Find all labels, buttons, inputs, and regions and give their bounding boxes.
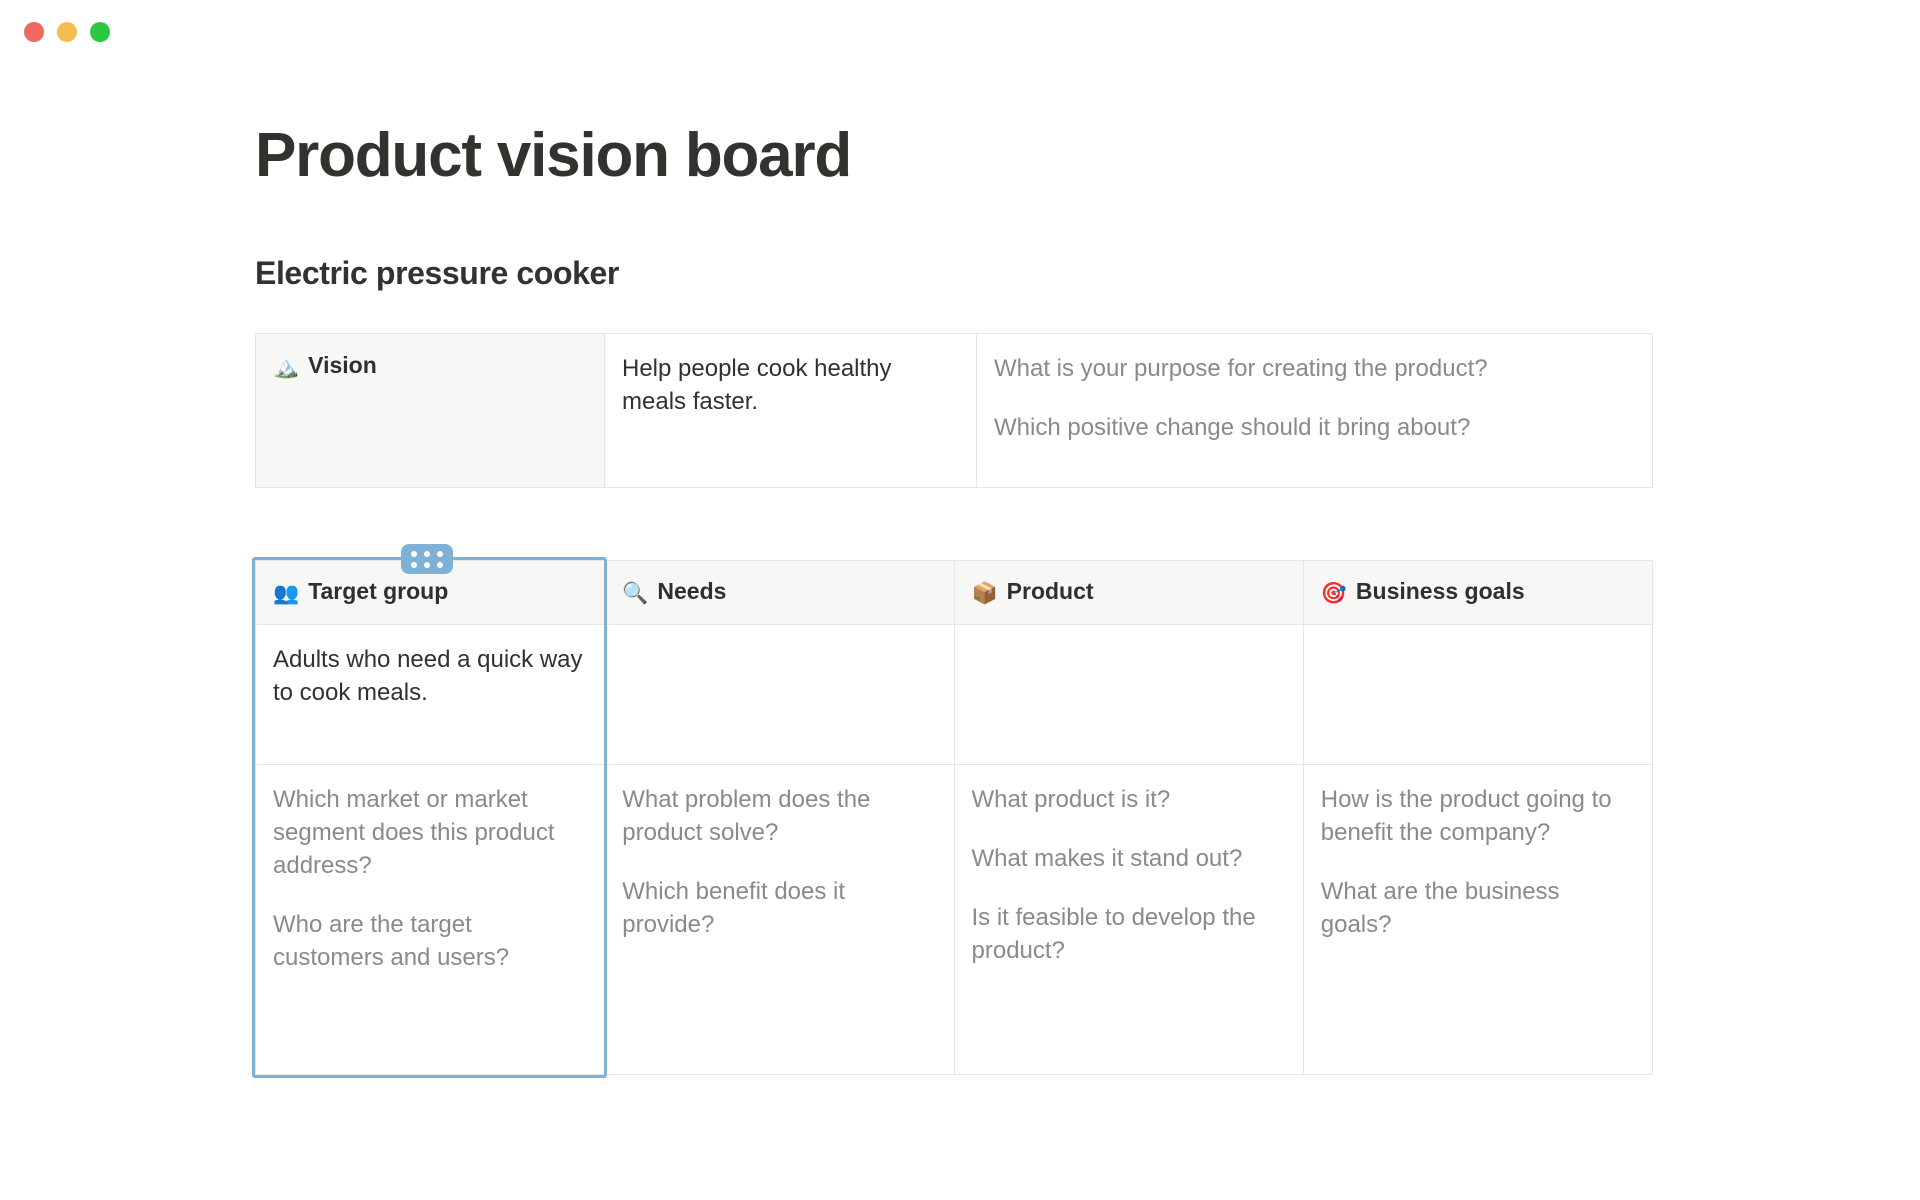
vision-placeholder-cell[interactable]: What is your purpose for creating the pr… xyxy=(977,334,1653,488)
handle-dot xyxy=(411,551,417,557)
column-header-label: Business goals xyxy=(1356,578,1525,604)
dart-target-icon: 🎯 xyxy=(1321,582,1347,606)
board-table: 👥Target group 🔍Needs 📦Product 🎯Business … xyxy=(255,560,1653,1075)
placeholder-line: What product is it? xyxy=(972,783,1285,816)
table-content-row: Adults who need a quick way to cook meal… xyxy=(256,625,1653,765)
placeholder-cell-business-goals[interactable]: How is the product going to benefit the … xyxy=(1303,765,1652,1075)
column-header-business-goals[interactable]: 🎯Business goals xyxy=(1303,561,1652,625)
handle-dot xyxy=(437,551,443,557)
column-drag-handle[interactable] xyxy=(401,544,453,574)
maximize-window-button[interactable] xyxy=(90,22,110,42)
placeholder-line: Who are the target customers and users? xyxy=(273,908,586,974)
table-placeholder-row: Which market or market segment does this… xyxy=(256,765,1653,1075)
vision-value-cell[interactable]: Help people cook healthy meals faster. xyxy=(605,334,977,488)
vision-table: 🏔️Vision Help people cook healthy meals … xyxy=(255,333,1653,488)
value-cell-product[interactable] xyxy=(954,625,1303,765)
table-header-row: 👥Target group 🔍Needs 📦Product 🎯Business … xyxy=(256,561,1653,625)
value-cell-business-goals[interactable] xyxy=(1303,625,1652,765)
handle-dot xyxy=(437,562,443,568)
busts-in-silhouette-icon: 👥 xyxy=(273,582,299,606)
placeholder-line: What problem does the product solve? xyxy=(622,783,935,849)
snow-capped-mountain-icon: 🏔️ xyxy=(273,356,299,380)
placeholder-line: Which benefit does it provide? xyxy=(622,875,935,941)
column-header-label: Target group xyxy=(308,578,448,604)
value-cell-needs[interactable] xyxy=(605,625,954,765)
window-traffic-lights xyxy=(24,22,110,42)
value-cell-target-group[interactable]: Adults who need a quick way to cook meal… xyxy=(256,625,605,765)
board-table-wrapper: 👥Target group 🔍Needs 📦Product 🎯Business … xyxy=(255,560,1655,1075)
placeholder-line: Which positive change should it bring ab… xyxy=(994,411,1634,444)
handle-dot xyxy=(411,562,417,568)
minimize-window-button[interactable] xyxy=(57,22,77,42)
column-header-label: Needs xyxy=(657,578,726,604)
placeholder-line: Is it feasible to develop the product? xyxy=(972,901,1285,967)
placeholder-cell-product[interactable]: What product is it? What makes it stand … xyxy=(954,765,1303,1075)
placeholder-line: How is the product going to benefit the … xyxy=(1321,783,1634,849)
table-row: 🏔️Vision Help people cook healthy meals … xyxy=(256,334,1653,488)
page-subtitle[interactable]: Electric pressure cooker xyxy=(255,255,1655,292)
magnifying-glass-icon: 🔍 xyxy=(622,582,648,606)
page-content: Product vision board Electric pressure c… xyxy=(255,0,1655,1075)
package-box-icon: 📦 xyxy=(972,582,998,606)
close-window-button[interactable] xyxy=(24,22,44,42)
placeholder-line: What are the business goals? xyxy=(1321,875,1634,941)
handle-dot xyxy=(424,551,430,557)
handle-dot-row xyxy=(411,551,443,557)
vision-header-cell[interactable]: 🏔️Vision xyxy=(256,334,605,488)
column-header-product[interactable]: 📦Product xyxy=(954,561,1303,625)
placeholder-line: What is your purpose for creating the pr… xyxy=(994,352,1634,385)
placeholder-cell-needs[interactable]: What problem does the product solve? Whi… xyxy=(605,765,954,1075)
vision-header-label: Vision xyxy=(308,352,377,378)
column-header-needs[interactable]: 🔍Needs xyxy=(605,561,954,625)
handle-dot-row xyxy=(411,562,443,568)
page-title[interactable]: Product vision board xyxy=(255,125,1655,187)
handle-dot xyxy=(424,562,430,568)
column-header-label: Product xyxy=(1007,578,1094,604)
placeholder-line: What makes it stand out? xyxy=(972,842,1285,875)
placeholder-line: Which market or market segment does this… xyxy=(273,783,586,882)
placeholder-cell-target-group[interactable]: Which market or market segment does this… xyxy=(256,765,605,1075)
